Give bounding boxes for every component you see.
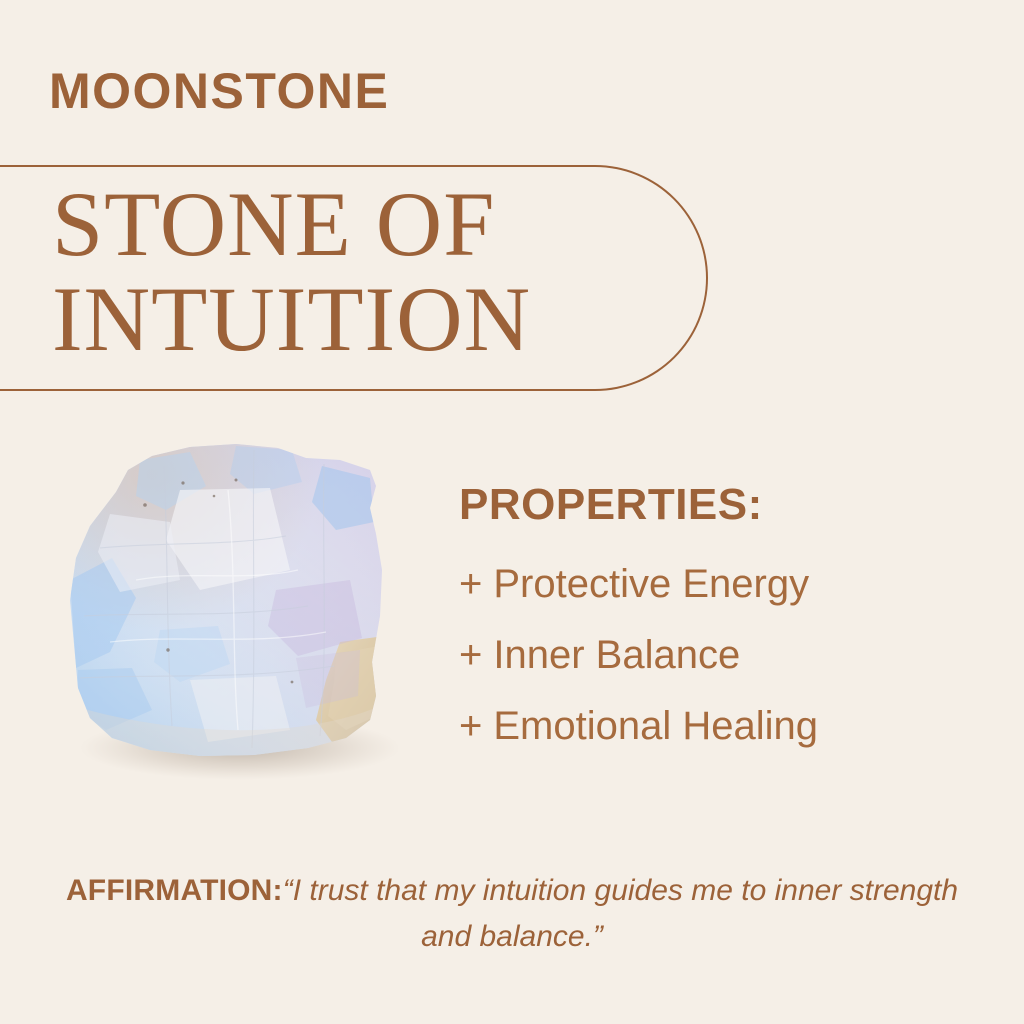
moonstone-info-card: MOONSTONE STONE OF INTUITION <box>0 0 1024 1024</box>
property-item-label: Inner Balance <box>493 633 740 677</box>
property-item-label: Emotional Healing <box>493 704 818 748</box>
page-eyebrow-heading: MOONSTONE <box>49 66 389 116</box>
affirmation-quote: “I trust that my intuition guides me to … <box>283 874 958 953</box>
affirmation-label: AFFIRMATION: <box>66 874 283 907</box>
properties-section: PROPERTIES: +Protective Energy +Inner Ba… <box>459 483 979 777</box>
page-title-line-1: STONE OF <box>52 177 672 272</box>
page-title: STONE OF INTUITION <box>52 177 672 367</box>
plus-icon: + <box>459 635 482 675</box>
property-item: +Inner Balance <box>459 635 979 675</box>
plus-icon: + <box>459 564 482 604</box>
properties-heading: PROPERTIES: <box>459 483 979 527</box>
moonstone-image <box>40 430 440 800</box>
property-item: +Emotional Healing <box>459 706 979 746</box>
affirmation-block: AFFIRMATION:“I trust that my intuition g… <box>44 868 980 960</box>
page-title-line-2: INTUITION <box>52 272 672 367</box>
property-item-label: Protective Energy <box>493 562 809 606</box>
property-item: +Protective Energy <box>459 564 979 604</box>
plus-icon: + <box>459 706 482 746</box>
